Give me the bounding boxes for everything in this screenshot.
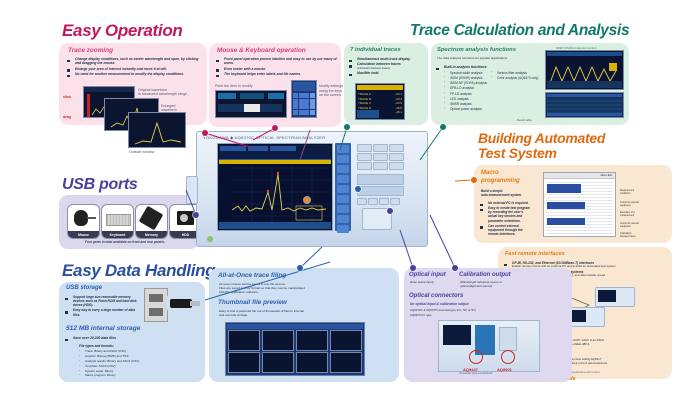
label-drag: drag	[63, 115, 71, 119]
lead-macro: Build a simple auto-measurement system	[481, 189, 521, 197]
body-all-at-once: All seven traces can be saved in one fil…	[219, 282, 305, 295]
sub-optical-input: (Free space input)	[410, 281, 433, 285]
usb-label-memory: Memory	[136, 233, 167, 237]
callout: Control of external equipment	[620, 223, 639, 229]
usb-icon-mouse[interactable]: Mouse	[67, 204, 100, 239]
title-optical-input: Optical input	[409, 272, 446, 278]
note-usb-ports: Four ports in total available on front a…	[85, 240, 165, 244]
list-item: Enlarge your area of interest instantly …	[70, 67, 203, 71]
list-item: Even easier with a mouse.	[219, 67, 337, 71]
title-macro-line1: Macro	[481, 170, 499, 176]
callout: Execution of a measurement	[620, 212, 635, 218]
list-item: Can control external equipment through t…	[483, 224, 531, 236]
instrument-softkeys[interactable]	[335, 143, 351, 231]
list-file-types: Trace: Binary and ASCII (CSV) Graphic: B…	[81, 350, 139, 379]
heading-test-system: Test System	[478, 145, 557, 161]
bullet-save-files: Save over 20,000 data files	[68, 336, 116, 341]
body-thumbnail-preview: Easy to find a particular file out of th…	[219, 309, 304, 317]
usb-label-mouse: Mouse	[68, 233, 99, 237]
usb-label-keyboard: Keyboard	[102, 233, 133, 237]
list-analysis-col2: Various filter analysis Color analysis (…	[493, 71, 538, 81]
list-item: Spectral width analysis	[446, 71, 487, 75]
instrument-keypad[interactable]	[357, 144, 423, 230]
list-item: DFB-LD analysis	[446, 86, 487, 90]
leader-dot	[272, 125, 278, 131]
leader-dot	[355, 186, 361, 192]
title-thumbnail-preview: Thumbnail file preview	[218, 299, 287, 306]
bullets-builtin-analysis: Built-in analysis functions:	[439, 65, 487, 70]
label-file-types: File types and formats:	[79, 344, 114, 348]
bullets-macro: No external PC is required. Easy to crea…	[483, 201, 531, 237]
list-item: Easy way to carry a large number of data…	[68, 308, 142, 316]
photo-usb-flash-drive	[166, 285, 202, 321]
leader-dot	[440, 124, 446, 130]
label-original-waveform: Original waveform in measured wavelength…	[138, 88, 187, 97]
title-usb-storage: USB storage	[66, 285, 102, 291]
heading-usb-ports: USB ports	[62, 176, 138, 194]
usb-icon-keyboard[interactable]: Keyboard	[101, 204, 134, 239]
title-internal-storage: 512 MB internal storage	[66, 325, 140, 332]
label-aq9001: AQ9001	[497, 367, 512, 372]
title-macro-line2: programming	[481, 178, 520, 184]
list-item: LED analysis	[446, 97, 487, 101]
list-item: Simultaneous multi-trace display	[352, 57, 424, 61]
photo-usb-ports-panel	[144, 288, 168, 322]
title-calibration-output: Calibration output	[459, 272, 511, 278]
label-enlarged-waveform: Enlarged waveform	[161, 104, 177, 113]
leader-dot	[304, 197, 310, 203]
leader-dot	[202, 130, 208, 136]
bullets-usb-storage: Support large size removable memory devi…	[68, 295, 142, 318]
screenshot-trace-list: TRACE ATRACE BTRACE CTRACE DTRACE E -30.…	[355, 83, 405, 120]
lead-spectrum-analysis: 13+ data analysis functions for popular …	[437, 57, 507, 61]
label-click: click	[63, 95, 71, 99]
list-item: Optical power analysis	[446, 107, 487, 111]
screenshot-result-table	[545, 92, 624, 118]
title-mouse-keyboard: Mouse & Keyboard operation	[217, 47, 306, 54]
list-item: Front panel operation proven intuitive a…	[219, 57, 337, 66]
list-item: Macro program: Binary	[81, 374, 139, 378]
list-item: Built-in analysis functions:	[439, 65, 487, 69]
list-item: The keyboard helps enter labels and file…	[219, 72, 337, 76]
screenshot-wdm-analysis	[545, 50, 624, 90]
instrument-side-port	[186, 176, 198, 204]
instrument-display	[217, 143, 333, 231]
note-subtraction: (subtraction between traces)	[357, 67, 424, 70]
connector-marker-aq9001	[501, 350, 515, 364]
heading-building-automated: Building Automated	[478, 130, 605, 146]
title-trace-zooming: Trace zooming	[68, 47, 113, 54]
leader-dot	[297, 265, 303, 271]
caption-universal-connectors: Universal type connectors	[459, 371, 492, 375]
list-item: Calculation between traces (subtraction …	[352, 62, 424, 70]
brochure-page: Easy Operation Trace zooming Change disp…	[0, 0, 680, 417]
heading-easy-operation: Easy Operation	[62, 21, 183, 41]
list-item: Easy to create test program by recording…	[483, 206, 531, 223]
label-point-item: Point the item to modify	[215, 84, 253, 88]
list-item: Various filter analysis	[493, 71, 538, 75]
caption-result-table: Result table	[517, 118, 532, 122]
callout: Measurement conditions	[620, 190, 634, 196]
instrument-photo: YOKOGAWA ◆ AQ6370C OPTICAL SPECTRUM ANAL…	[196, 131, 428, 247]
screenshot-enlarged-waveform	[128, 112, 186, 148]
callout: Control of external equipment	[620, 202, 639, 208]
screenshot-macro-editor: Macro Edit	[543, 172, 616, 237]
photo-connector-panel: AQ9447 AQ9001	[438, 320, 540, 372]
leader-dot	[471, 177, 477, 183]
leader-dot	[387, 208, 393, 214]
list-item: WDM-NF (EDFA) analysis	[446, 81, 487, 85]
screenshot-parameter-edit	[215, 90, 287, 118]
heading-easy-data-handling: Easy Data Handling	[62, 261, 215, 281]
list-item: FP-LD analysis	[446, 92, 487, 96]
connector-marker-aq9447	[469, 350, 483, 364]
heading-trace-calculation: Trace Calculation and Analysis	[410, 22, 629, 40]
title-remote-interfaces: Fast remote interfaces	[505, 251, 565, 257]
bullets-trace-zooming: Change display conditions, such as cente…	[70, 57, 203, 78]
screenshot-numeric-keypad	[291, 80, 317, 118]
instrument-brand: YOKOGAWA ◆ AQ6370C OPTICAL SPECTRUM ANAL…	[203, 135, 325, 140]
list-item: Color analysis (AQ6373 only)	[493, 76, 538, 80]
list-item: No need for another measurement to modif…	[70, 72, 203, 76]
list-item: No external PC is required.	[483, 201, 531, 205]
bullets-seven-traces: Simultaneous multi-trace display Calcula…	[352, 57, 424, 77]
list-item: Template: ASCII (CSV)	[81, 365, 139, 369]
list-item: SMSR analysis	[446, 102, 487, 106]
list-item: Change display conditions, such as cente…	[70, 57, 203, 66]
leader-dot	[410, 265, 416, 271]
list-item: WDM (DSNR) analysis	[446, 76, 487, 80]
list-item: Max/Min hold	[352, 71, 424, 75]
screenshot-thumbnail-browser	[225, 322, 365, 376]
list-item: Support large size removable memory devi…	[68, 295, 142, 307]
title-optical-connectors: Optical connectors	[409, 293, 463, 299]
connector-line-2: AQ6373 FC type	[410, 314, 432, 318]
leader-dot	[452, 265, 458, 271]
bullets-mouse-keyboard: Front panel operation proven intuitive a…	[219, 57, 337, 78]
label-outside-window: Outside window	[129, 150, 154, 154]
callout: Calculation between traces	[620, 233, 636, 239]
list-item: Save over 20,000 data files	[68, 336, 116, 340]
label-modify-settings: Modify settings using the keys on the sc…	[319, 84, 343, 98]
title-spectrum-analysis: Spectrum analysis functions	[437, 47, 516, 53]
title-all-at-once: All-at-Once trace filing	[218, 272, 286, 279]
list-analysis-col1: Spectral width analysis WDM (DSNR) analy…	[446, 71, 487, 112]
leader-dot	[193, 212, 199, 218]
sub-optical-connectors: for optical input & calibration output	[410, 302, 469, 306]
usb-icon-memory[interactable]: Memory	[135, 204, 168, 239]
sub-calibration-output: (Wavelength reference source or optical …	[460, 281, 502, 289]
title-seven-traces: 7 individual traces	[350, 47, 401, 53]
macro-window-title: Macro Edit	[601, 174, 612, 177]
leader-dot	[344, 124, 350, 130]
